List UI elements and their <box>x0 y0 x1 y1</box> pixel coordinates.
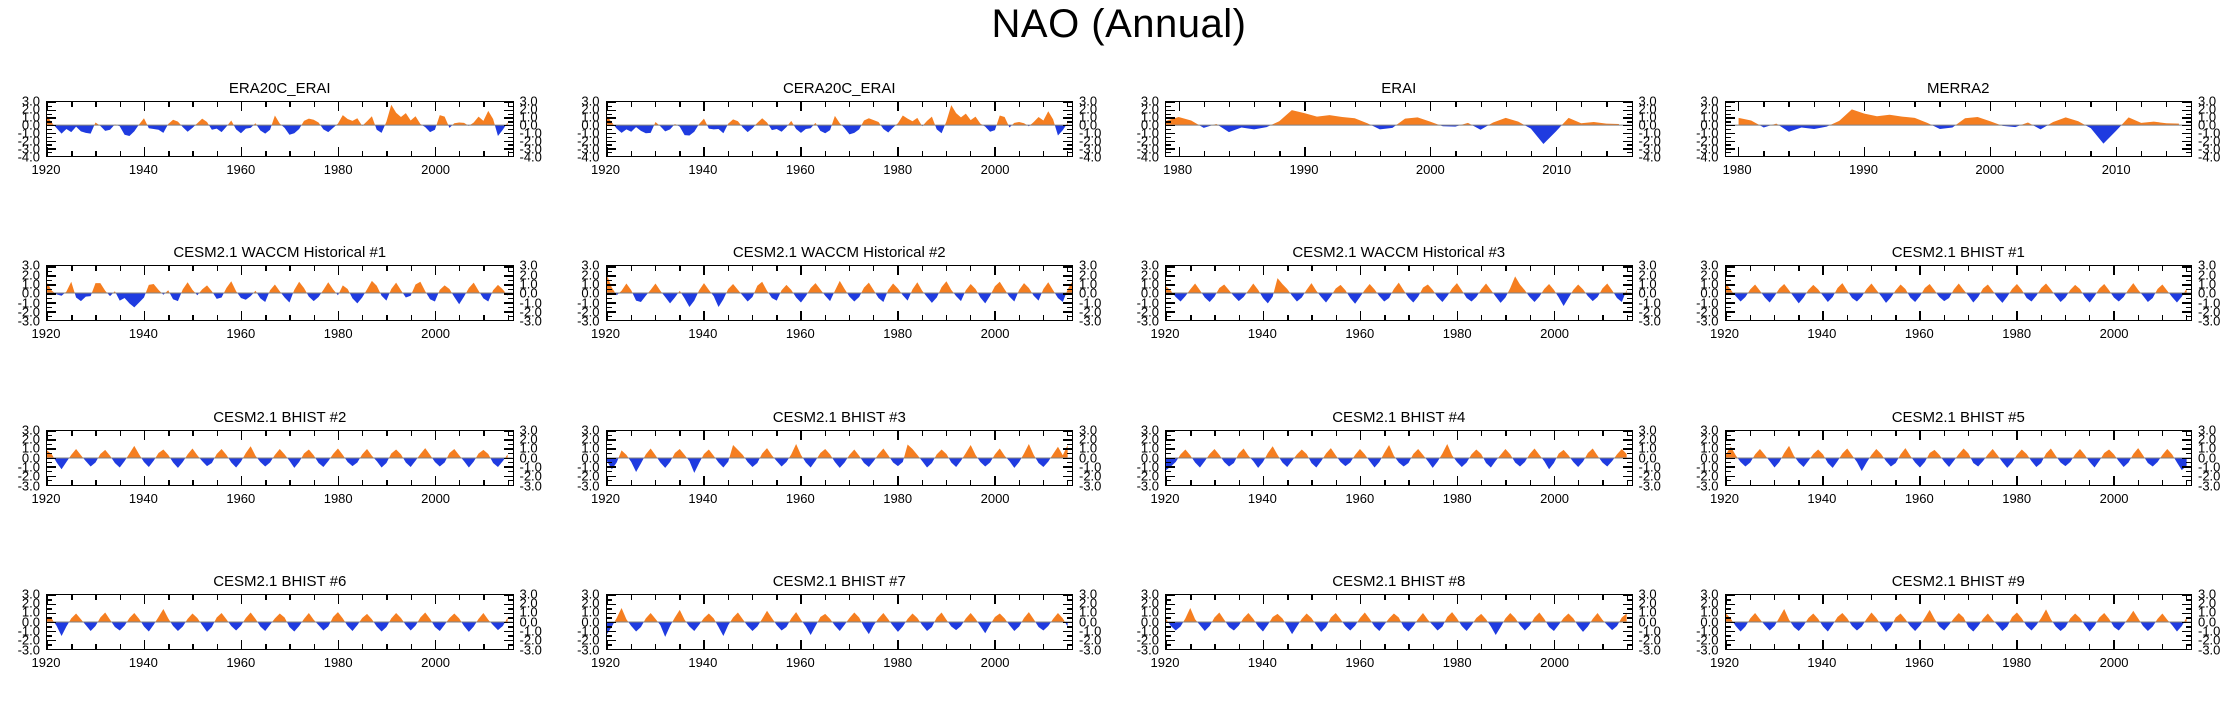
y-tick <box>508 298 513 299</box>
x-tick <box>1505 480 1506 485</box>
series-area <box>47 102 513 156</box>
y-tick <box>1627 114 1632 115</box>
x-tick <box>192 644 193 649</box>
x-tick <box>2016 595 2017 604</box>
y-tick <box>1726 431 1735 432</box>
x-tick <box>1019 644 1020 649</box>
y-tick <box>508 289 513 290</box>
y-tick <box>47 431 56 432</box>
y-tick <box>607 453 612 454</box>
x-tick <box>752 266 753 271</box>
x-tick-label: 1920 <box>32 326 61 341</box>
x-tick <box>265 595 266 600</box>
x-tick <box>1944 266 1945 271</box>
x-tick <box>217 595 218 600</box>
x-tick <box>1726 476 1727 485</box>
y-tick <box>47 471 52 472</box>
x-tick <box>1578 480 1579 485</box>
x-tick <box>1798 315 1799 320</box>
x-tick <box>95 431 96 436</box>
panel-title: MERRA2 <box>1725 80 2193 97</box>
x-tick <box>2186 266 2187 271</box>
y-tick <box>607 485 616 486</box>
x-tick <box>1239 315 1240 320</box>
y-tick <box>1623 466 1632 467</box>
x-tick <box>679 102 680 107</box>
x-tick <box>922 266 923 271</box>
x-tick <box>703 102 704 111</box>
x-tick-label: 1960 <box>1905 326 1934 341</box>
x-tick <box>1287 644 1288 649</box>
y-tick <box>2182 156 2191 157</box>
y-tick-label: -3.0 <box>1639 479 1661 492</box>
x-tick <box>217 644 218 649</box>
x-tick <box>1798 644 1799 649</box>
x-tick <box>1602 431 1603 436</box>
y-tick <box>1166 293 1175 294</box>
x-tick <box>95 266 96 271</box>
x-tick <box>1992 266 1993 271</box>
x-tick <box>2016 311 2017 320</box>
x-tick <box>1627 644 1628 649</box>
x-tick <box>655 480 656 485</box>
x-tick <box>1944 644 1945 649</box>
y-tick <box>2182 302 2191 303</box>
x-tick <box>144 595 145 604</box>
y-tick <box>2182 148 2191 149</box>
series-area <box>1166 266 1632 320</box>
x-tick <box>241 311 242 320</box>
x-tick <box>289 431 290 436</box>
x-tick-label: 2000 <box>1416 162 1445 177</box>
y-tick <box>47 608 52 609</box>
y-tick <box>504 125 513 126</box>
y-tick <box>1166 439 1175 440</box>
x-tick <box>1043 266 1044 271</box>
y-tick <box>1726 110 1735 111</box>
x-tick <box>1814 151 1815 156</box>
x-tick <box>703 595 704 604</box>
x-tick <box>2191 151 2192 156</box>
x-tick <box>994 102 995 111</box>
x-tick <box>1360 431 1361 440</box>
y-tick <box>607 125 616 126</box>
y-tick <box>1067 289 1072 290</box>
y-tick <box>1726 133 1735 134</box>
y-tick <box>1726 117 1735 118</box>
x-tick-label: 1920 <box>591 655 620 670</box>
x-tick <box>1578 315 1579 320</box>
y-tick <box>504 640 513 641</box>
y-tick <box>607 311 616 312</box>
x-tick <box>1914 151 1915 156</box>
x-tick <box>265 151 266 156</box>
y-tick <box>1166 302 1175 303</box>
x-tick <box>1384 480 1385 485</box>
x-tick <box>607 266 608 275</box>
y-tick <box>607 289 612 290</box>
x-tick <box>655 151 656 156</box>
x-tick <box>47 595 48 604</box>
y-tick <box>1726 148 1735 149</box>
y-tick <box>607 110 616 111</box>
y-tick <box>1726 114 1731 115</box>
x-tick <box>946 595 947 600</box>
x-tick-label: 1920 <box>591 491 620 506</box>
y-tick <box>1627 129 1632 130</box>
x-tick <box>1455 151 1456 156</box>
x-tick <box>508 431 509 436</box>
panel-title: ERA20C_ERAI <box>46 80 514 97</box>
x-tick <box>1457 431 1458 440</box>
x-tick <box>1214 644 1215 649</box>
x-tick <box>1433 644 1434 649</box>
y-tick <box>1726 307 1731 308</box>
x-tick-label: 1920 <box>32 491 61 506</box>
x-tick <box>776 102 777 107</box>
y-tick <box>1627 626 1632 627</box>
x-tick <box>362 480 363 485</box>
x-tick <box>1336 480 1337 485</box>
x-tick <box>1889 151 1890 156</box>
x-tick-label: 1940 <box>1807 326 1836 341</box>
y-tick <box>1623 604 1632 605</box>
x-tick <box>1822 640 1823 649</box>
x-tick <box>1578 644 1579 649</box>
x-tick <box>217 102 218 107</box>
x-tick <box>922 431 923 436</box>
x-tick <box>144 102 145 111</box>
y-tick <box>607 133 616 134</box>
x-tick <box>435 595 436 604</box>
x-tick <box>1019 431 1020 436</box>
y-tick-label: -3.0 <box>1079 315 1101 328</box>
x-tick <box>1166 311 1167 320</box>
y-tick <box>1063 631 1072 632</box>
x-tick <box>1895 431 1896 436</box>
y-tick <box>47 617 52 618</box>
x-tick <box>289 595 290 600</box>
y-tick <box>607 144 612 145</box>
y-tick <box>1166 152 1171 153</box>
x-tick <box>922 595 923 600</box>
x-tick <box>2116 147 2117 156</box>
x-tick <box>825 431 826 436</box>
x-tick <box>435 102 436 111</box>
x-tick <box>2040 102 2041 107</box>
x-tick <box>752 151 753 156</box>
x-tick <box>1864 147 1865 156</box>
y-tick <box>2186 444 2191 445</box>
y-tick <box>504 458 513 459</box>
x-tick <box>607 311 608 320</box>
y-tick <box>1063 117 1072 118</box>
x-tick <box>655 102 656 107</box>
x-tick <box>752 315 753 320</box>
x-tick <box>800 102 801 111</box>
x-tick <box>1738 102 1739 111</box>
y-tick <box>504 141 513 142</box>
panel-title: CESM2.1 BHIST #7 <box>606 573 1074 590</box>
y-tick <box>1063 649 1072 650</box>
x-tick <box>800 640 801 649</box>
series-area <box>607 431 1073 485</box>
x-tick <box>71 480 72 485</box>
x-tick <box>873 315 874 320</box>
x-tick <box>71 315 72 320</box>
x-tick <box>1822 431 1823 440</box>
y-tick <box>1726 448 1735 449</box>
x-tick <box>1814 102 1815 107</box>
x-tick <box>1019 315 1020 320</box>
x-tick <box>728 431 729 436</box>
x-tick <box>265 266 266 271</box>
x-tick <box>752 431 753 436</box>
x-tick <box>1405 151 1406 156</box>
y-tick <box>607 448 616 449</box>
y-tick <box>1166 453 1171 454</box>
y-tick <box>1063 448 1072 449</box>
x-tick <box>1602 480 1603 485</box>
x-tick <box>1481 266 1482 271</box>
y-tick-label: -3.0 <box>2198 315 2220 328</box>
x-tick <box>1214 315 1215 320</box>
x-tick <box>703 311 704 320</box>
y-tick <box>1067 121 1072 122</box>
x-tick-label: 1960 <box>786 491 815 506</box>
x-tick <box>47 311 48 320</box>
x-tick-label: 1920 <box>1710 491 1739 506</box>
x-tick <box>1043 431 1044 436</box>
x-tick-label: 2000 <box>421 326 450 341</box>
x-tick <box>1774 315 1775 320</box>
y-tick <box>1166 471 1171 472</box>
y-tick-label: -3.0 <box>1639 315 1661 328</box>
x-tick <box>607 102 608 111</box>
x-tick <box>1330 102 1331 107</box>
x-tick <box>2065 431 2066 436</box>
x-tick <box>120 595 121 600</box>
y-tick <box>47 311 56 312</box>
x-tick <box>1919 476 1920 485</box>
x-tick <box>1067 315 1068 320</box>
y-tick <box>1063 311 1072 312</box>
y-tick <box>47 275 56 276</box>
y-tick <box>1166 144 1171 145</box>
x-tick-label: 1920 <box>32 162 61 177</box>
x-tick <box>1750 480 1751 485</box>
y-tick <box>1166 137 1171 138</box>
series-area <box>607 595 1073 649</box>
x-tick <box>1822 266 1823 275</box>
x-tick <box>1380 151 1381 156</box>
x-tick <box>970 151 971 156</box>
y-tick <box>47 133 56 134</box>
x-tick-label: 1960 <box>226 655 255 670</box>
x-tick <box>411 595 412 600</box>
x-tick <box>776 480 777 485</box>
y-tick <box>47 476 56 477</box>
x-tick <box>1578 431 1579 436</box>
series-area <box>1726 266 2192 320</box>
x-tick <box>1992 644 1993 649</box>
x-tick <box>970 266 971 271</box>
x-tick <box>1481 151 1482 156</box>
x-tick <box>1408 480 1409 485</box>
x-tick <box>1457 266 1458 275</box>
x-tick-label: 1980 <box>1163 162 1192 177</box>
y-tick <box>1067 444 1072 445</box>
y-tick <box>1726 280 1731 281</box>
plot-area <box>606 594 1074 650</box>
x-tick <box>386 151 387 156</box>
x-tick <box>435 476 436 485</box>
x-tick <box>1965 102 1966 107</box>
x-tick <box>120 102 121 107</box>
y-tick <box>607 129 612 130</box>
x-tick <box>897 431 898 440</box>
x-tick <box>970 595 971 600</box>
x-tick <box>1895 480 1896 485</box>
x-tick <box>2141 151 2142 156</box>
x-tick-label: 1980 <box>2002 655 2031 670</box>
x-tick <box>120 431 121 436</box>
x-tick <box>47 266 48 275</box>
x-tick <box>1556 147 1557 156</box>
y-tick-label: -3.0 <box>520 643 542 656</box>
y-tick <box>607 595 616 596</box>
x-tick-label: 2000 <box>2100 655 2129 670</box>
x-tick <box>1944 480 1945 485</box>
y-tick <box>504 604 513 605</box>
x-tick <box>1043 480 1044 485</box>
x-tick <box>71 431 72 436</box>
x-tick-label: 1940 <box>1248 491 1277 506</box>
x-tick <box>825 315 826 320</box>
x-tick <box>922 480 923 485</box>
y-tick <box>1067 137 1072 138</box>
x-tick <box>120 266 121 271</box>
x-tick <box>241 102 242 111</box>
x-tick <box>679 480 680 485</box>
y-tick <box>1623 458 1632 459</box>
x-tick <box>2138 266 2139 271</box>
y-tick <box>1063 640 1072 641</box>
x-tick <box>1336 315 1337 320</box>
y-tick <box>47 448 56 449</box>
x-tick <box>1919 311 1920 320</box>
y-tick <box>1166 102 1175 103</box>
x-tick <box>1847 480 1848 485</box>
x-tick <box>946 315 947 320</box>
x-tick-label: 1980 <box>1443 655 1472 670</box>
x-tick-label: 1960 <box>226 326 255 341</box>
y-tick <box>47 631 56 632</box>
x-tick <box>1481 315 1482 320</box>
x-tick <box>241 640 242 649</box>
y-tick <box>47 284 56 285</box>
y-tick <box>2186 462 2191 463</box>
x-tick <box>849 102 850 107</box>
y-tick <box>1726 617 1731 618</box>
y-tick <box>1726 125 1735 126</box>
y-tick <box>1627 280 1632 281</box>
x-tick-label: 1940 <box>129 326 158 341</box>
x-tick <box>994 311 995 320</box>
x-tick <box>825 595 826 600</box>
x-tick <box>922 151 923 156</box>
y-tick <box>1726 631 1735 632</box>
series-area <box>1166 431 1632 485</box>
y-tick <box>1726 121 1731 122</box>
y-tick <box>47 302 56 303</box>
y-tick <box>47 102 56 103</box>
x-tick <box>1384 644 1385 649</box>
x-tick <box>1992 480 1993 485</box>
x-tick-label: 1980 <box>1443 326 1472 341</box>
y-tick <box>2182 640 2191 641</box>
x-tick <box>849 315 850 320</box>
x-tick <box>1798 480 1799 485</box>
y-tick <box>2182 485 2191 486</box>
x-tick-label: 1940 <box>129 162 158 177</box>
y-tick <box>1623 448 1632 449</box>
y-tick <box>1726 266 1735 267</box>
x-tick <box>411 431 412 436</box>
x-tick <box>338 640 339 649</box>
y-tick <box>607 444 612 445</box>
x-tick <box>483 595 484 600</box>
y-tick <box>47 485 56 486</box>
y-tick <box>2186 298 2191 299</box>
series-area <box>1726 102 2192 156</box>
x-tick-label: 1960 <box>786 655 815 670</box>
x-tick <box>2041 595 2042 600</box>
y-tick <box>1726 471 1731 472</box>
x-tick <box>47 640 48 649</box>
x-tick-label: 1980 <box>883 162 912 177</box>
x-tick <box>1263 595 1264 604</box>
y-tick <box>1726 289 1731 290</box>
y-tick <box>1166 266 1175 267</box>
x-tick <box>607 476 608 485</box>
x-tick <box>289 102 290 107</box>
y-tick <box>2182 125 2191 126</box>
x-tick <box>679 644 680 649</box>
x-tick <box>1602 266 1603 271</box>
x-tick <box>679 266 680 271</box>
y-tick <box>2182 604 2191 605</box>
x-tick <box>411 480 412 485</box>
x-tick-label: 1980 <box>2002 491 2031 506</box>
y-tick <box>2186 471 2191 472</box>
y-tick <box>504 485 513 486</box>
y-tick <box>504 448 513 449</box>
y-tick <box>607 604 616 605</box>
y-tick <box>2182 622 2191 623</box>
x-tick <box>338 595 339 604</box>
x-tick <box>1430 147 1431 156</box>
x-tick <box>1336 266 1337 271</box>
y-tick <box>1166 156 1175 157</box>
y-tick <box>1623 148 1632 149</box>
x-tick <box>1889 102 1890 107</box>
x-tick <box>2016 476 2017 485</box>
y-tick <box>504 320 513 321</box>
series-area <box>47 595 513 649</box>
y-tick <box>1623 631 1632 632</box>
y-tick <box>508 617 513 618</box>
